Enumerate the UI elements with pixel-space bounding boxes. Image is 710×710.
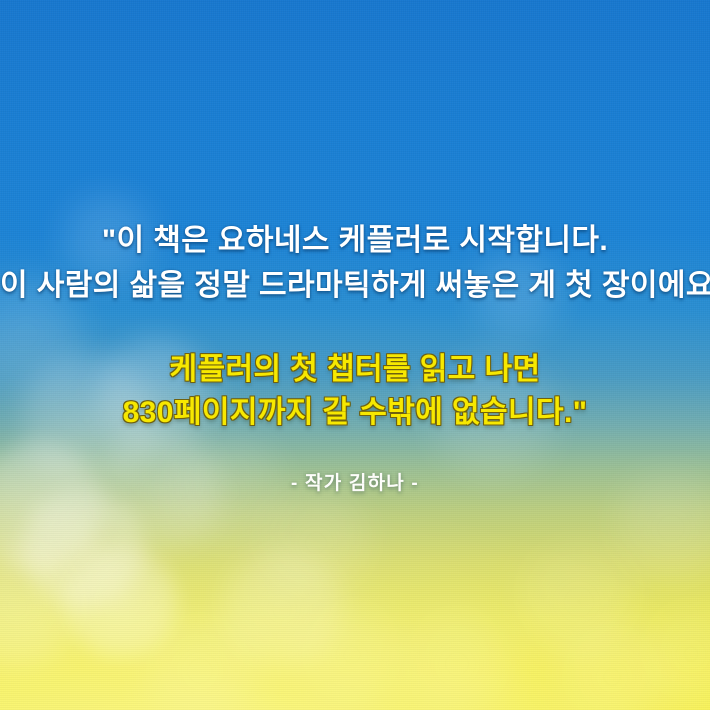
paper-grain [0,0,710,710]
bokeh-circle [98,430,224,554]
bokeh-circle [0,440,106,574]
bokeh-circle [96,336,216,454]
bokeh-circle [0,542,82,670]
quote-content: "이 책은 요하네스 케플러로 시작합니다. 이 사람의 삶을 정말 드라마틱하… [0,0,710,710]
bokeh-circle [60,190,156,284]
bokeh-circle [20,486,146,610]
bokeh-circles-layer [0,0,710,710]
bokeh-circle [428,352,560,482]
bokeh-circle [470,250,562,340]
bokeh-circle [140,612,260,710]
bottom-glow [0,0,710,710]
bokeh-circle [218,546,346,672]
attribution-text: - 작가 김하나 - [0,468,710,495]
quote-line-1: "이 책은 요하네스 케플러로 시작합니다. [0,215,710,259]
bokeh-circle [398,606,516,710]
bokeh-circle [636,600,710,708]
bokeh-circle [516,540,642,664]
bokeh-circle [62,544,180,660]
quote-line-3: 케플러의 첫 챕터를 읽고 나면 [0,344,710,388]
quote-card: "이 책은 요하네스 케플러로 시작합니다. 이 사람의 삶을 정말 드라마틱하… [0,0,710,710]
bokeh-circle [168,432,288,550]
bokeh-circle [610,468,710,588]
bokeh-circle [296,600,408,710]
quote-line-4: 830페이지까지 갈 수밖에 없습니다." [0,387,710,431]
quote-line-2: 이 사람의 삶을 정말 드라마틱하게 써놓은 게 첫 장이에요. [0,260,710,304]
bokeh-circle [18,352,156,488]
bokeh-circle [258,486,374,600]
bokeh-circle [556,622,668,710]
bokeh-circle [0,276,86,394]
